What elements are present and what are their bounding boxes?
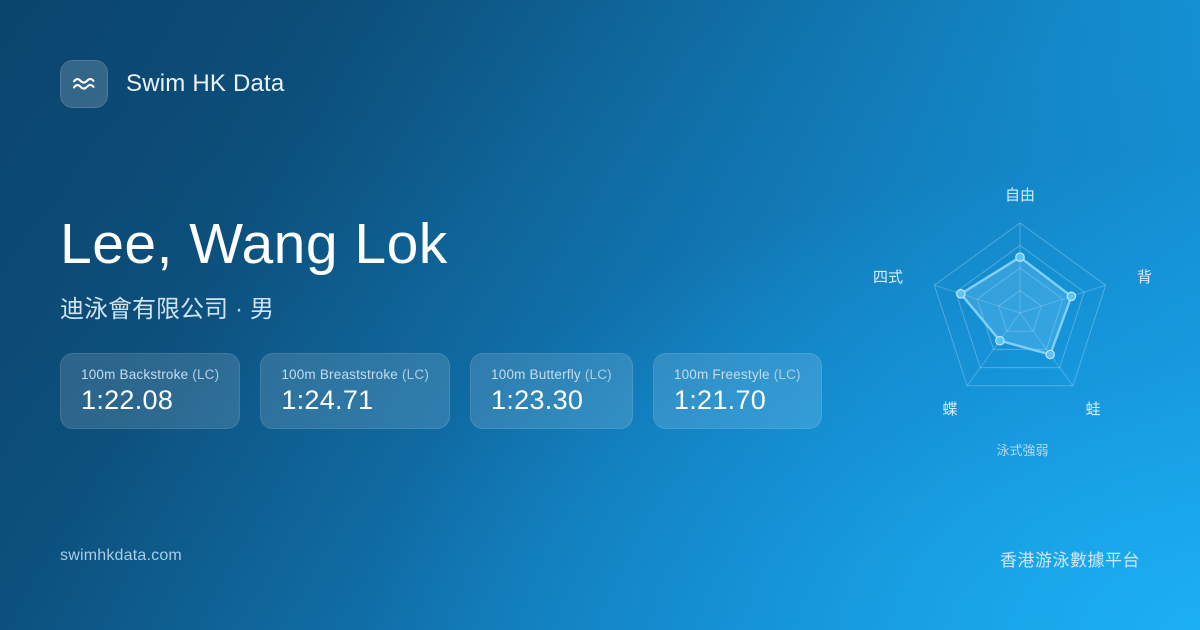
share-card: Swim HK Data Lee, Wang Lok 迪泳會有限公司·男 100…	[0, 0, 1200, 630]
stat-card-label: 100m Backstroke (LC)	[81, 367, 219, 382]
stat-card-time: 1:23.30	[491, 386, 612, 414]
stat-card-course: (LC)	[402, 367, 429, 382]
stat-card-list: 100m Backstroke (LC) 1:22.08 100m Breast…	[60, 353, 822, 429]
stat-card-label: 100m Breaststroke (LC)	[281, 367, 429, 382]
stat-card-time: 1:24.71	[281, 386, 429, 414]
footer-site: swimhkdata.com	[60, 547, 182, 565]
stat-card-label: 100m Freestyle (LC)	[674, 367, 801, 382]
athlete-meta: 迪泳會有限公司·男	[60, 289, 448, 324]
radar-data-point	[1046, 350, 1054, 358]
radar-data-point	[957, 290, 965, 298]
radar-data-point	[996, 337, 1004, 345]
stat-card-event: 100m Backstroke	[81, 367, 188, 382]
athlete-club: 迪泳會有限公司	[60, 296, 228, 323]
radar-data-point	[1067, 292, 1075, 300]
stat-card-course: (LC)	[774, 367, 801, 382]
brand-name: Swim HK Data	[126, 70, 284, 98]
stat-card: 100m Butterfly (LC) 1:23.30	[470, 353, 633, 429]
stat-card-label: 100m Butterfly (LC)	[491, 367, 612, 382]
stat-card: 100m Backstroke (LC) 1:22.08	[60, 353, 240, 429]
footer-tagline: 香港游泳數據平台	[1000, 546, 1140, 571]
page-title: Lee, Wang Lok	[60, 215, 448, 275]
stat-card-time: 1:22.08	[81, 386, 219, 414]
radar-axis-label: 四式	[873, 268, 903, 286]
hero: Lee, Wang Lok 迪泳會有限公司·男	[60, 215, 448, 324]
stat-card-course: (LC)	[585, 367, 612, 382]
stat-card: 100m Breaststroke (LC) 1:24.71	[260, 353, 450, 429]
athlete-gender: 男	[250, 296, 274, 323]
radar-axis-label: 蛙	[1085, 400, 1100, 418]
stat-card-time: 1:21.70	[674, 386, 801, 414]
radar-axis-label: 自由	[1005, 186, 1035, 204]
stat-card-event: 100m Butterfly	[491, 367, 581, 382]
wave-icon	[60, 60, 108, 108]
stat-card-event: 100m Breaststroke	[281, 367, 398, 382]
radar-chart: 自由背蛙蝶四式 泳式強弱	[875, 170, 1170, 470]
radar-caption: 泳式強弱	[996, 444, 1048, 459]
stat-card: 100m Freestyle (LC) 1:21.70	[653, 353, 822, 429]
stat-card-event: 100m Freestyle	[674, 367, 770, 382]
radar-series-area	[961, 257, 1072, 354]
meta-separator: ·	[228, 296, 250, 323]
radar-axis-label: 蝶	[942, 400, 957, 418]
radar-axis-label: 背	[1137, 268, 1152, 286]
radar-data-point	[1016, 253, 1024, 261]
brand: Swim HK Data	[60, 60, 284, 108]
stat-card-course: (LC)	[192, 367, 219, 382]
